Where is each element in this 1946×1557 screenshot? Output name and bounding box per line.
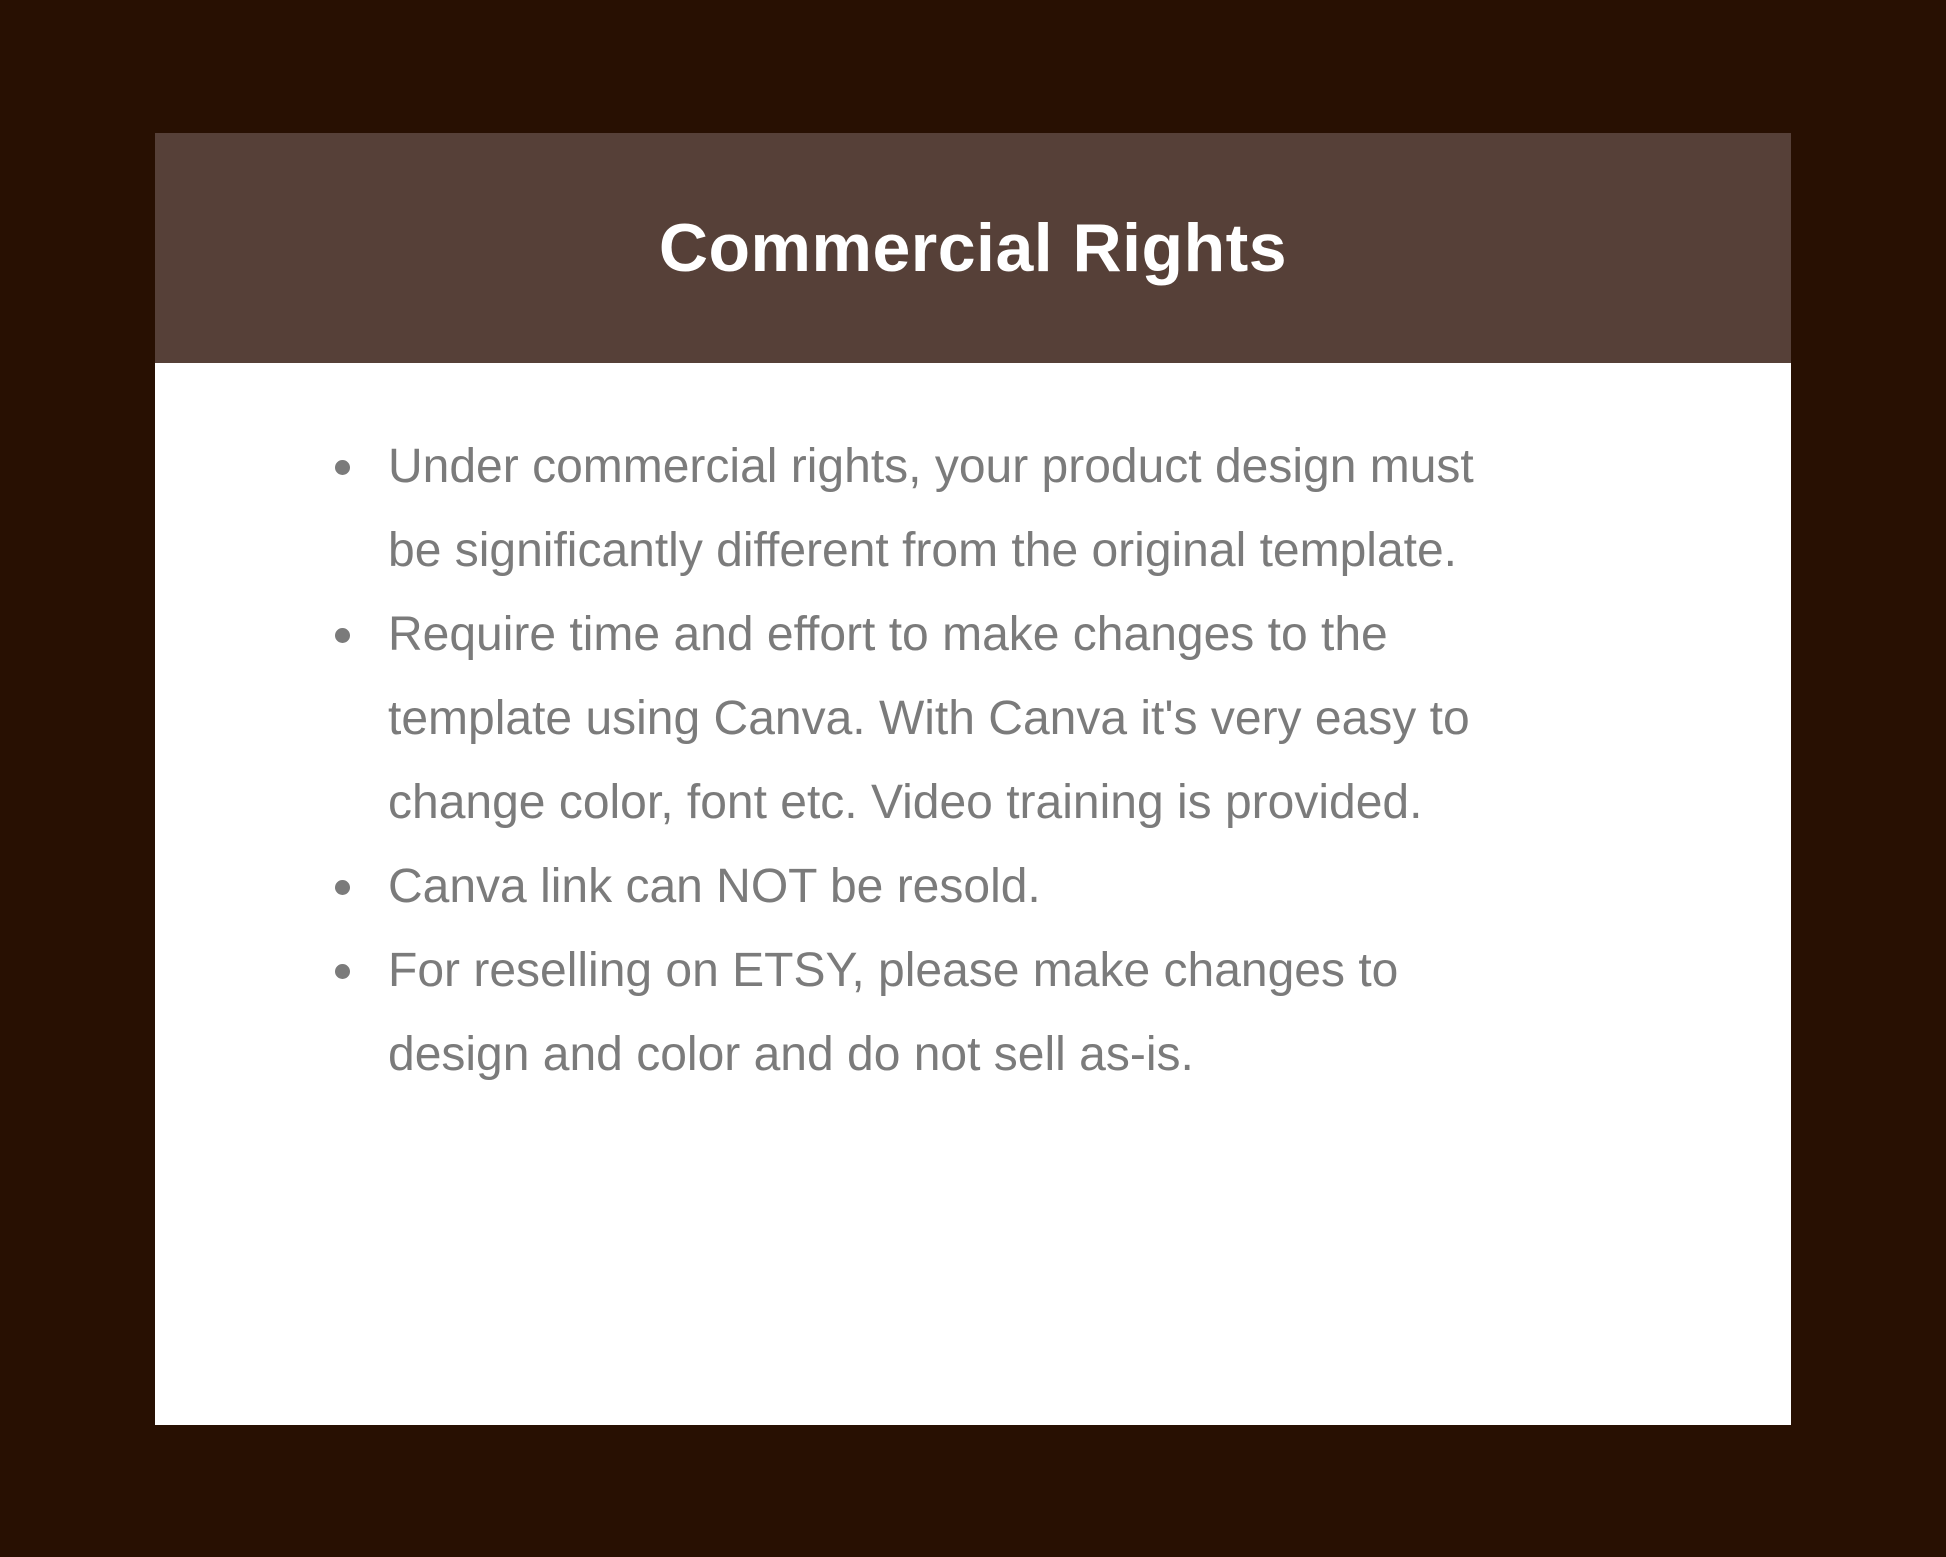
page-title: Commercial Rights xyxy=(659,214,1287,282)
list-item: Require time and effort to make changes … xyxy=(335,593,1525,845)
list-item-text: For reselling on ETSY, please make chang… xyxy=(388,944,1398,1081)
bullet-list: Under commercial rights, your product de… xyxy=(335,425,1525,1097)
bullet-dot-icon xyxy=(335,628,350,643)
bullet-dot-icon xyxy=(335,460,350,475)
card-header: Commercial Rights xyxy=(155,133,1791,363)
bullet-dot-icon xyxy=(335,880,350,895)
list-item-text: Under commercial rights, your product de… xyxy=(388,440,1474,577)
slide-canvas: Commercial Rights Under commercial right… xyxy=(0,0,1946,1557)
list-item-text: Canva link can NOT be resold. xyxy=(388,860,1041,913)
list-item-text: Require time and effort to make changes … xyxy=(388,608,1470,829)
bullet-dot-icon xyxy=(335,964,350,979)
card-body: Under commercial rights, your product de… xyxy=(155,363,1791,1425)
list-item: Canva link can NOT be resold. xyxy=(335,845,1525,929)
list-item: For reselling on ETSY, please make chang… xyxy=(335,929,1525,1097)
commercial-rights-card: Commercial Rights Under commercial right… xyxy=(155,133,1791,1425)
list-item: Under commercial rights, your product de… xyxy=(335,425,1525,593)
